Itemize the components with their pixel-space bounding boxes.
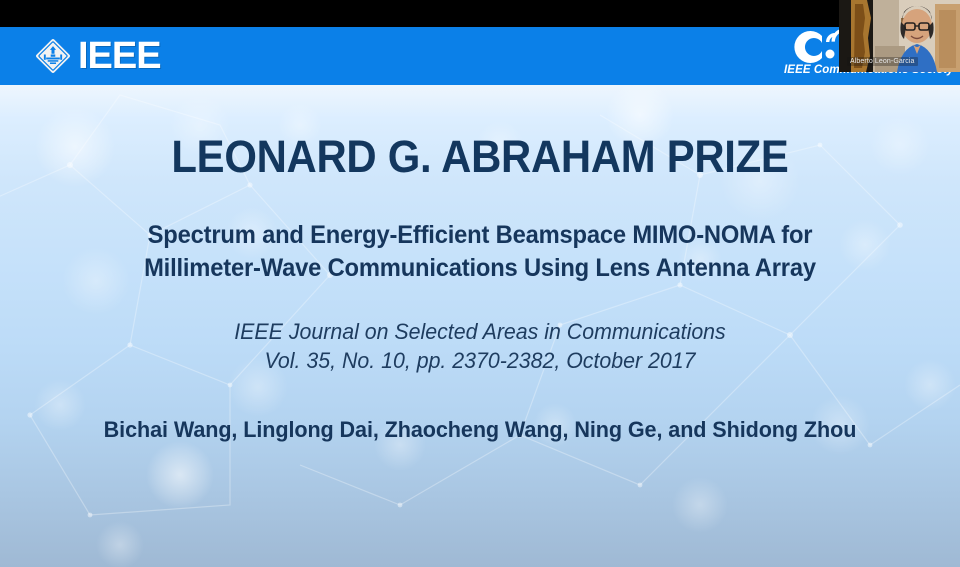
ieee-logo: IEEE	[34, 34, 161, 78]
ieee-diamond-icon	[34, 37, 72, 75]
paper-title-line-2: Millimeter-Wave Communications Using Len…	[24, 252, 936, 285]
paper-title-line-1: Spectrum and Energy-Efficient Beamspace …	[24, 219, 936, 252]
award-title: LEONARD G. ABRAHAM PRIZE	[34, 133, 927, 180]
authors-line: Bichai Wang, Linglong Dai, Zhaocheng Wan…	[19, 417, 941, 443]
journal-volume-pages: Vol. 35, No. 10, pp. 2370-2382, October …	[14, 346, 945, 375]
top-letterbox-bar	[0, 0, 960, 27]
paper-title: Spectrum and Energy-Efficient Beamspace …	[24, 219, 936, 285]
slide-text-block: LEONARD G. ABRAHAM PRIZE Spectrum and En…	[0, 85, 960, 567]
journal-name: IEEE Journal on Selected Areas in Commun…	[14, 317, 945, 346]
ieee-wordmark: IEEE	[78, 37, 161, 75]
journal-citation: IEEE Journal on Selected Areas in Commun…	[14, 317, 945, 376]
slide-screen: IEEE IEEE Communications Society	[0, 0, 960, 567]
webcam-video-tile[interactable]: Alberto Leon-Garcia	[839, 0, 960, 72]
webcam-participant-name: Alberto Leon-Garcia	[847, 57, 918, 66]
slide-body: LEONARD G. ABRAHAM PRIZE Spectrum and En…	[0, 85, 960, 567]
